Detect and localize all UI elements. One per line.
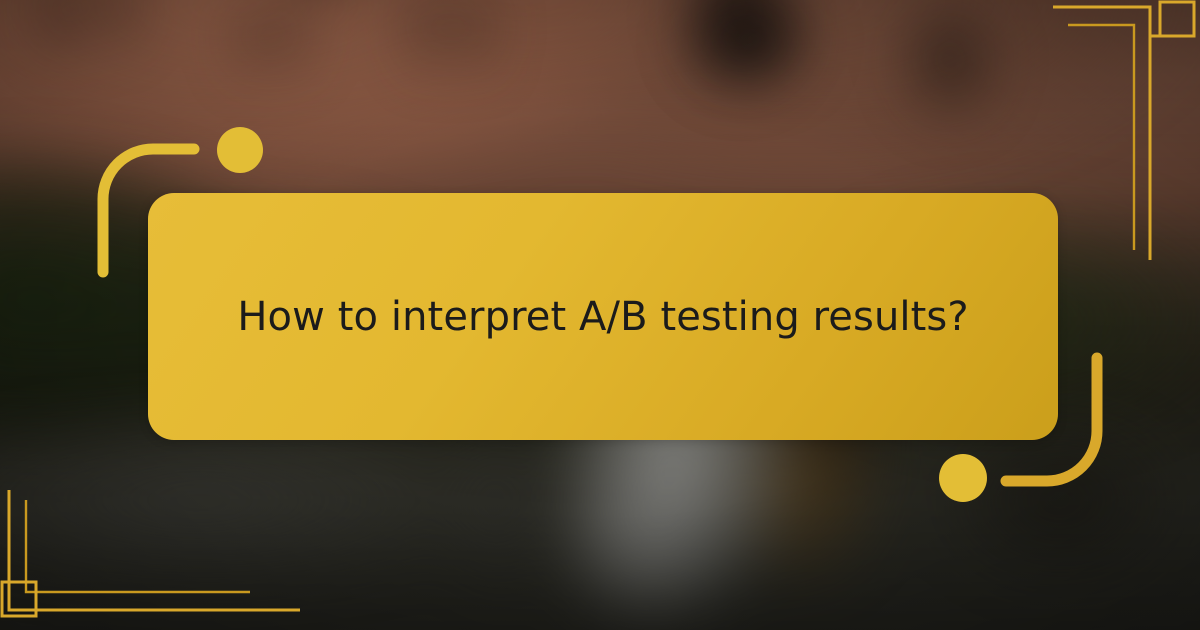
question-card: How to interpret A/B testing results? (148, 193, 1058, 440)
card-title: How to interpret A/B testing results? (179, 293, 1026, 341)
screenshot-canvas: How to interpret A/B testing results? (0, 0, 1200, 630)
